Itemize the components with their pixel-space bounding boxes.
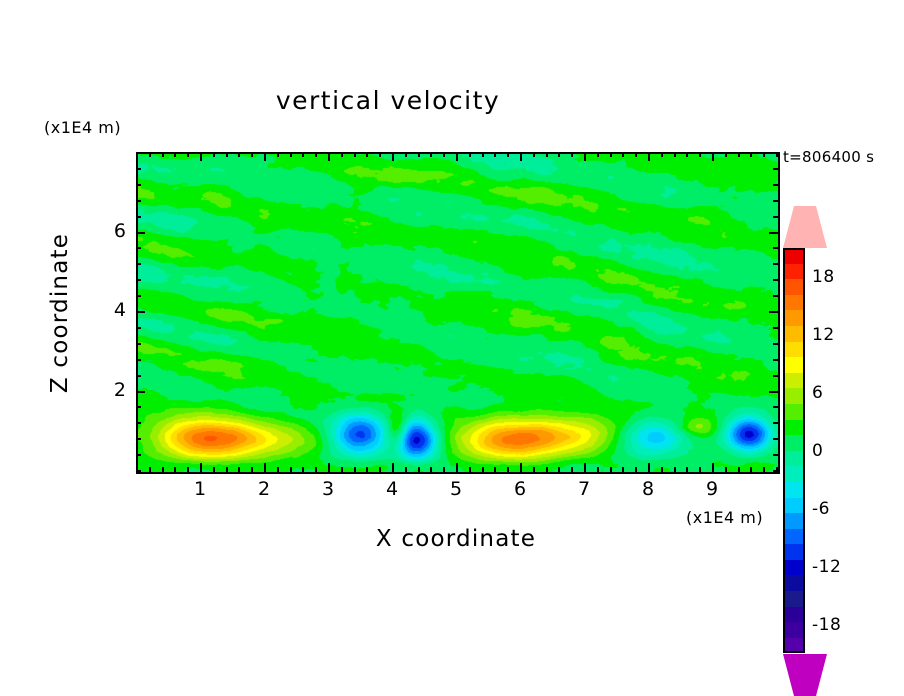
y-major-tick-right [769, 232, 778, 234]
x-major-tick-top [584, 152, 586, 161]
colorbar-band [783, 607, 805, 623]
x-minor-tick [686, 467, 688, 472]
x-minor-tick-top [251, 152, 253, 157]
x-major-tick-top [520, 152, 522, 161]
colorbar-band [783, 357, 805, 373]
x-tick-label: 3 [308, 478, 348, 500]
x-minor-tick-top [546, 152, 548, 157]
colorbar-band [783, 451, 805, 467]
x-minor-tick-top [635, 152, 637, 157]
x-minor-tick-top [418, 152, 420, 157]
x-tick-label: 1 [180, 478, 220, 500]
y-tick-label: 4 [86, 299, 126, 321]
y-minor-tick [136, 184, 141, 186]
x-minor-tick-top [405, 152, 407, 157]
colorbar-band [783, 279, 805, 295]
colorbar-tick-label: -18 [812, 615, 841, 635]
y-minor-tick [136, 295, 141, 297]
x-minor-tick [187, 467, 189, 472]
x-minor-tick [379, 467, 381, 472]
x-minor-tick-top [430, 152, 432, 157]
colorbar-band [783, 575, 805, 591]
x-minor-tick [750, 467, 752, 472]
x-minor-tick [597, 467, 599, 472]
x-minor-tick-top [661, 152, 663, 157]
x-minor-tick [366, 467, 368, 472]
x-major-tick [264, 463, 266, 472]
x-minor-tick-top [302, 152, 304, 157]
x-minor-tick [763, 467, 765, 472]
x-major-tick [520, 463, 522, 472]
colorbar-tick-label: 12 [812, 325, 835, 345]
x-minor-tick-top [366, 152, 368, 157]
x-tick-label: 7 [564, 478, 604, 500]
y-minor-tick-right [773, 184, 778, 186]
y-minor-tick-right [773, 359, 778, 361]
x-minor-tick-top [597, 152, 599, 157]
colorbar-band [783, 264, 805, 280]
y-minor-tick [136, 279, 141, 281]
x-minor-tick [213, 467, 215, 472]
x-minor-tick [661, 467, 663, 472]
x-major-tick-top [456, 152, 458, 161]
x-minor-tick-top [187, 152, 189, 157]
x-minor-tick-top [238, 152, 240, 157]
x-major-tick-top [328, 152, 330, 161]
colorbar-band [783, 560, 805, 576]
colorbar-band [783, 295, 805, 311]
x-minor-tick-top [674, 152, 676, 157]
x-minor-tick-top [149, 152, 151, 157]
x-minor-tick [149, 467, 151, 472]
y-minor-tick-right [773, 438, 778, 440]
x-minor-tick [622, 467, 624, 472]
y-minor-tick [136, 216, 141, 218]
colorbar-band [783, 513, 805, 529]
y-tick-label: 2 [86, 379, 126, 401]
x-minor-tick-top [686, 152, 688, 157]
y-minor-tick-right [773, 279, 778, 281]
x-minor-tick [546, 467, 548, 472]
y-major-tick-right [769, 391, 778, 393]
x-major-tick-top [392, 152, 394, 161]
timestamp-annotation: t=806400 s [783, 148, 874, 166]
x-minor-tick [430, 467, 432, 472]
y-minor-tick-right [773, 152, 778, 154]
y-minor-tick [136, 263, 141, 265]
colorbar-band [783, 435, 805, 451]
x-minor-tick-top [443, 152, 445, 157]
colorbar-band [783, 466, 805, 482]
colorbar [783, 248, 805, 653]
colorbar-band [783, 404, 805, 420]
y-minor-tick [136, 470, 141, 472]
x-minor-tick-top [622, 152, 624, 157]
x-minor-tick [558, 467, 560, 472]
x-tick-label: 9 [692, 478, 732, 500]
x-minor-tick-top [226, 152, 228, 157]
colorbar-band [783, 310, 805, 326]
x-minor-tick [174, 467, 176, 472]
x-major-tick-top [712, 152, 714, 161]
x-minor-tick-top [571, 152, 573, 157]
colorbar-band [783, 638, 805, 654]
colorbar-band [783, 544, 805, 560]
x-major-tick-top [648, 152, 650, 161]
colorbar-band [783, 373, 805, 389]
x-minor-tick [405, 467, 407, 472]
x-major-tick [456, 463, 458, 472]
x-minor-tick [571, 467, 573, 472]
y-minor-tick [136, 454, 141, 456]
x-minor-tick [315, 467, 317, 472]
x-minor-tick [418, 467, 420, 472]
y-minor-tick [136, 247, 141, 249]
y-minor-tick-right [773, 247, 778, 249]
x-minor-tick-top [750, 152, 752, 157]
y-minor-tick-right [773, 216, 778, 218]
x-axis-unit-label: (x1E4 m) [686, 508, 763, 527]
x-tick-label: 6 [500, 478, 540, 500]
x-minor-tick [725, 467, 727, 472]
x-tick-label: 2 [244, 478, 284, 500]
x-minor-tick-top [162, 152, 164, 157]
y-minor-tick [136, 327, 141, 329]
y-major-tick [136, 391, 145, 393]
colorbar-band [783, 482, 805, 498]
x-major-tick-top [200, 152, 202, 161]
x-minor-tick [302, 467, 304, 472]
x-minor-tick [226, 467, 228, 472]
colorbar-tick-label: -6 [812, 499, 830, 519]
x-minor-tick-top [558, 152, 560, 157]
figure-root: vertical velocity (x1E4 m) (x1E4 m) X co… [0, 0, 904, 654]
x-minor-tick [162, 467, 164, 472]
vertical-velocity-field [138, 154, 778, 472]
y-minor-tick [136, 375, 141, 377]
y-minor-tick-right [773, 422, 778, 424]
colorbar-tick-label: 6 [812, 383, 823, 403]
x-axis-label: X coordinate [136, 526, 776, 552]
x-minor-tick-top [610, 152, 612, 157]
colorbar-band [783, 248, 805, 264]
x-minor-tick [699, 467, 701, 472]
colorbar-band [783, 342, 805, 358]
x-major-tick [200, 463, 202, 472]
x-major-tick-top [264, 152, 266, 161]
x-major-tick [328, 463, 330, 472]
y-minor-tick [136, 152, 141, 154]
x-minor-tick-top [213, 152, 215, 157]
x-minor-tick-top [315, 152, 317, 157]
x-minor-tick-top [763, 152, 765, 157]
y-axis-label: Z coordinate [47, 213, 73, 413]
x-minor-tick [674, 467, 676, 472]
colorbar-tick-label: -12 [812, 557, 841, 577]
y-major-tick [136, 311, 145, 313]
x-minor-tick [277, 467, 279, 472]
x-minor-tick [494, 467, 496, 472]
y-minor-tick-right [773, 295, 778, 297]
colorbar-band [783, 529, 805, 545]
y-minor-tick-right [773, 327, 778, 329]
colorbar-band [783, 622, 805, 638]
colorbar-under-cap [783, 654, 827, 696]
x-major-tick [392, 463, 394, 472]
y-minor-tick-right [773, 168, 778, 170]
x-tick-label: 5 [436, 478, 476, 500]
x-minor-tick [469, 467, 471, 472]
x-minor-tick-top [699, 152, 701, 157]
y-minor-tick [136, 200, 141, 202]
x-minor-tick [354, 467, 356, 472]
x-minor-tick-top [379, 152, 381, 157]
x-minor-tick-top [174, 152, 176, 157]
y-minor-tick [136, 406, 141, 408]
x-tick-label: 4 [372, 478, 412, 500]
x-minor-tick-top [533, 152, 535, 157]
y-tick-label: 6 [86, 220, 126, 242]
x-minor-tick [443, 467, 445, 472]
x-minor-tick-top [507, 152, 509, 157]
x-minor-tick-top [341, 152, 343, 157]
x-minor-tick [738, 467, 740, 472]
x-minor-tick-top [725, 152, 727, 157]
y-minor-tick [136, 359, 141, 361]
y-minor-tick [136, 438, 141, 440]
x-minor-tick-top [290, 152, 292, 157]
colorbar-band [783, 420, 805, 436]
y-major-tick [136, 232, 145, 234]
colorbar-tick-label: 18 [812, 267, 835, 287]
y-minor-tick-right [773, 454, 778, 456]
x-minor-tick [635, 467, 637, 472]
colorbar-tick-label: 0 [812, 441, 823, 461]
chart-title: vertical velocity [0, 86, 776, 115]
y-minor-tick [136, 343, 141, 345]
y-minor-tick-right [773, 406, 778, 408]
x-minor-tick [251, 467, 253, 472]
x-minor-tick-top [469, 152, 471, 157]
y-minor-tick-right [773, 470, 778, 472]
x-minor-tick [341, 467, 343, 472]
x-major-tick [584, 463, 586, 472]
x-major-tick [712, 463, 714, 472]
x-minor-tick-top [738, 152, 740, 157]
x-minor-tick [482, 467, 484, 472]
y-minor-tick-right [773, 375, 778, 377]
x-minor-tick [533, 467, 535, 472]
x-minor-tick-top [494, 152, 496, 157]
colorbar-over-cap [783, 206, 827, 248]
x-tick-label: 8 [628, 478, 668, 500]
x-minor-tick [610, 467, 612, 472]
colorbar-band [783, 388, 805, 404]
y-minor-tick-right [773, 200, 778, 202]
x-minor-tick [238, 467, 240, 472]
colorbar-band [783, 591, 805, 607]
colorbar-band [783, 326, 805, 342]
y-minor-tick [136, 422, 141, 424]
x-minor-tick-top [277, 152, 279, 157]
y-minor-tick-right [773, 263, 778, 265]
x-minor-tick-top [482, 152, 484, 157]
x-minor-tick-top [354, 152, 356, 157]
x-major-tick [648, 463, 650, 472]
contour-plot-area [136, 152, 780, 474]
z-axis-unit-label: (x1E4 m) [44, 118, 121, 137]
y-major-tick-right [769, 311, 778, 313]
x-minor-tick [507, 467, 509, 472]
colorbar-band [783, 498, 805, 514]
x-minor-tick [290, 467, 292, 472]
y-minor-tick [136, 168, 141, 170]
y-minor-tick-right [773, 343, 778, 345]
